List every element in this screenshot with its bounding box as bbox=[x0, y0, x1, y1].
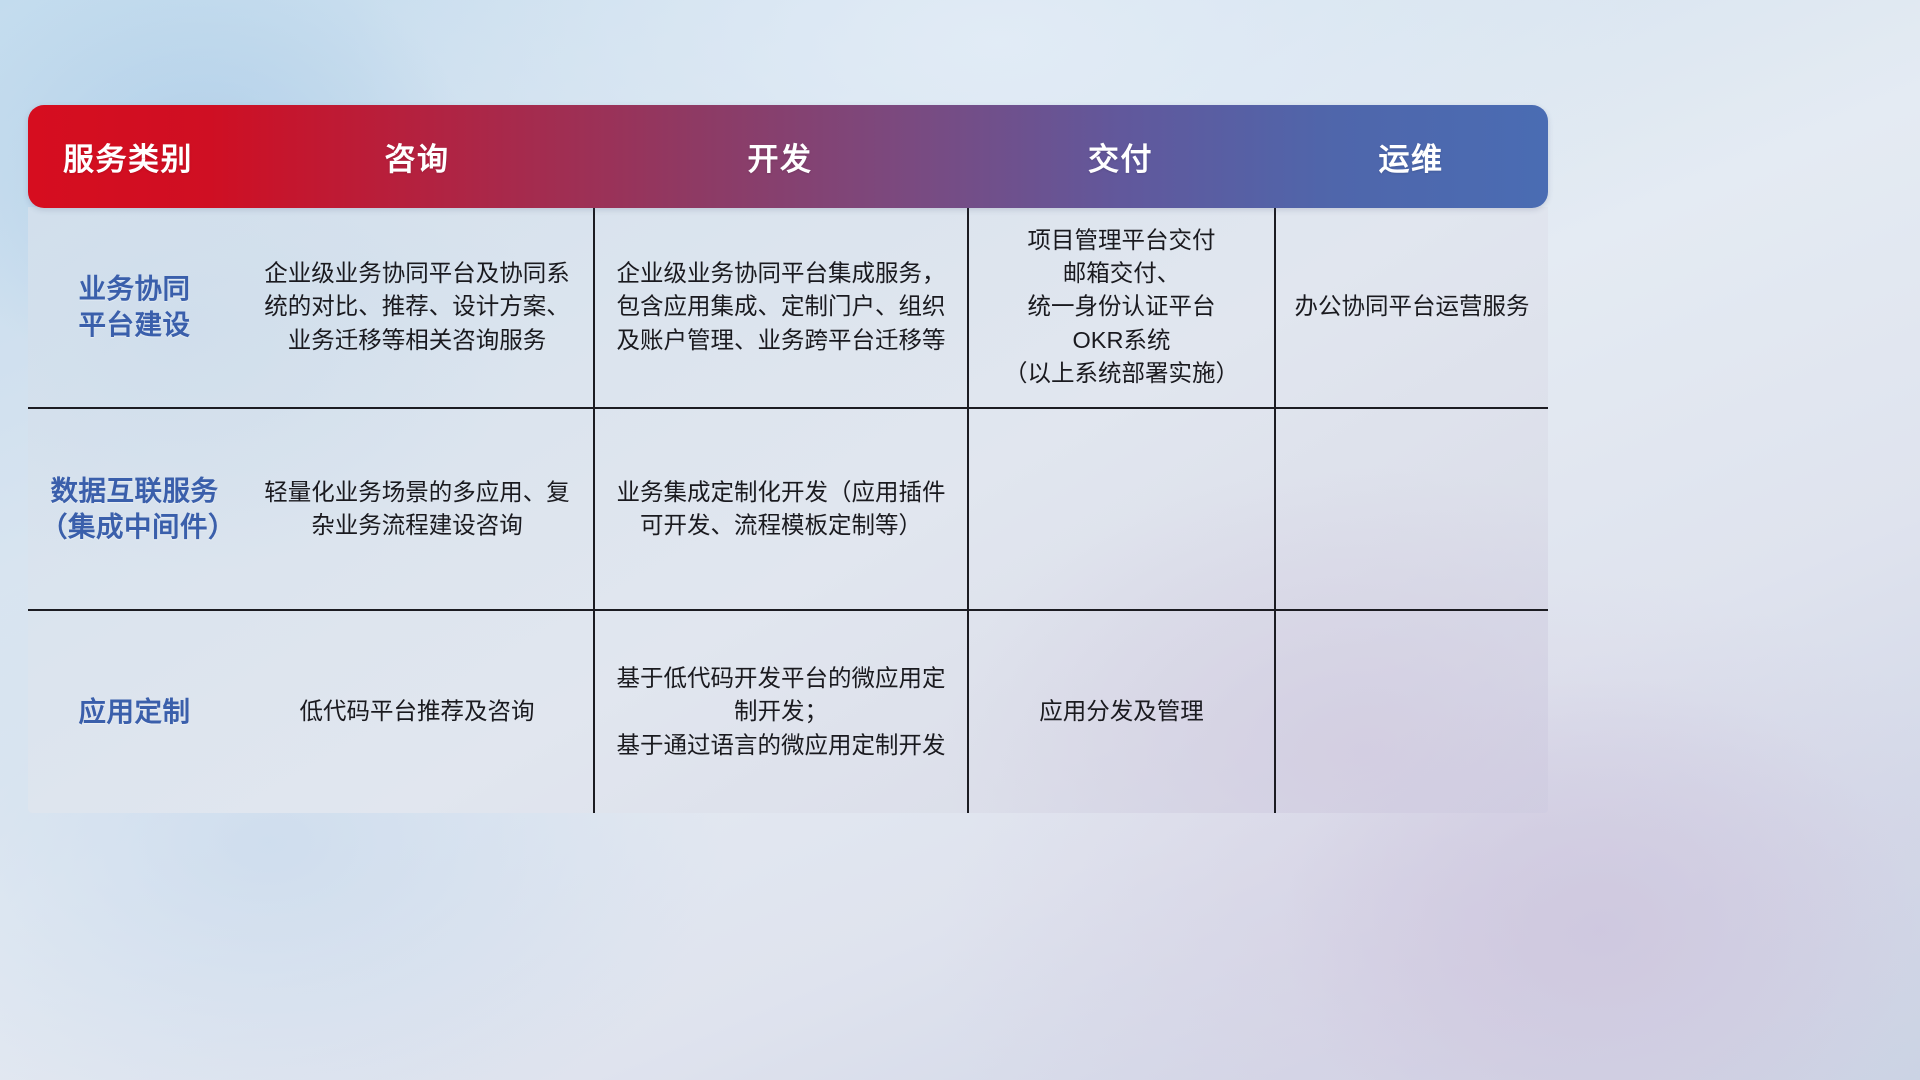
cell-delivery: 项目管理平台交付 邮箱交付、 统一身份认证平台 OKR系统 （以上系统部署实施） bbox=[967, 207, 1274, 407]
column-header-operations: 运维 bbox=[1274, 105, 1548, 208]
slide-canvas: 服务类别 咨询 开发 交付 运维 业务协同 平台建设 企业级业务协同平台及协同系… bbox=[0, 0, 1920, 1080]
cell-operations: 办公协同平台运营服务 bbox=[1274, 207, 1548, 407]
cell-consulting: 轻量化业务场景的多应用、复 杂业务流程建设咨询 bbox=[241, 409, 593, 609]
row-label-cell: 数据互联服务 （集成中间件） bbox=[28, 409, 241, 609]
table-header-row: 服务类别 咨询 开发 交付 运维 bbox=[28, 105, 1548, 208]
table-row: 数据互联服务 （集成中间件） 轻量化业务场景的多应用、复 杂业务流程建设咨询 业… bbox=[28, 407, 1548, 609]
service-matrix-table: 服务类别 咨询 开发 交付 运维 业务协同 平台建设 企业级业务协同平台及协同系… bbox=[28, 105, 1548, 775]
cell-consulting: 低代码平台推荐及咨询 bbox=[241, 611, 593, 813]
cell-development: 企业级业务协同平台集成服务， 包含应用集成、定制门户、组织 及账户管理、业务跨平… bbox=[593, 207, 967, 407]
column-header-delivery: 交付 bbox=[967, 105, 1274, 208]
cell-development: 业务集成定制化开发（应用插件 可开发、流程模板定制等） bbox=[593, 409, 967, 609]
cell-operations bbox=[1274, 611, 1548, 813]
row-label-text: 数据互联服务 （集成中间件） bbox=[40, 473, 229, 545]
column-header-development: 开发 bbox=[593, 105, 967, 208]
column-header-category: 服务类别 bbox=[28, 105, 241, 208]
table-row: 业务协同 平台建设 企业级业务协同平台及协同系 统的对比、推荐、设计方案、 业务… bbox=[28, 207, 1548, 407]
row-label-text: 应用定制 bbox=[79, 694, 191, 730]
row-label-text: 业务协同 平台建设 bbox=[79, 271, 191, 343]
cell-consulting: 企业级业务协同平台及协同系 统的对比、推荐、设计方案、 业务迁移等相关咨询服务 bbox=[241, 207, 593, 407]
row-label-cell: 应用定制 bbox=[28, 611, 241, 813]
column-header-consulting: 咨询 bbox=[241, 105, 593, 208]
cell-operations bbox=[1274, 409, 1548, 609]
cell-development: 基于低代码开发平台的微应用定 制开发； 基于通过语言的微应用定制开发 bbox=[593, 611, 967, 813]
cell-delivery bbox=[967, 409, 1274, 609]
table-row: 应用定制 低代码平台推荐及咨询 基于低代码开发平台的微应用定 制开发； 基于通过… bbox=[28, 609, 1548, 813]
cell-delivery: 应用分发及管理 bbox=[967, 611, 1274, 813]
table-body: 业务协同 平台建设 企业级业务协同平台及协同系 统的对比、推荐、设计方案、 业务… bbox=[28, 207, 1548, 813]
row-label-cell: 业务协同 平台建设 bbox=[28, 207, 241, 407]
